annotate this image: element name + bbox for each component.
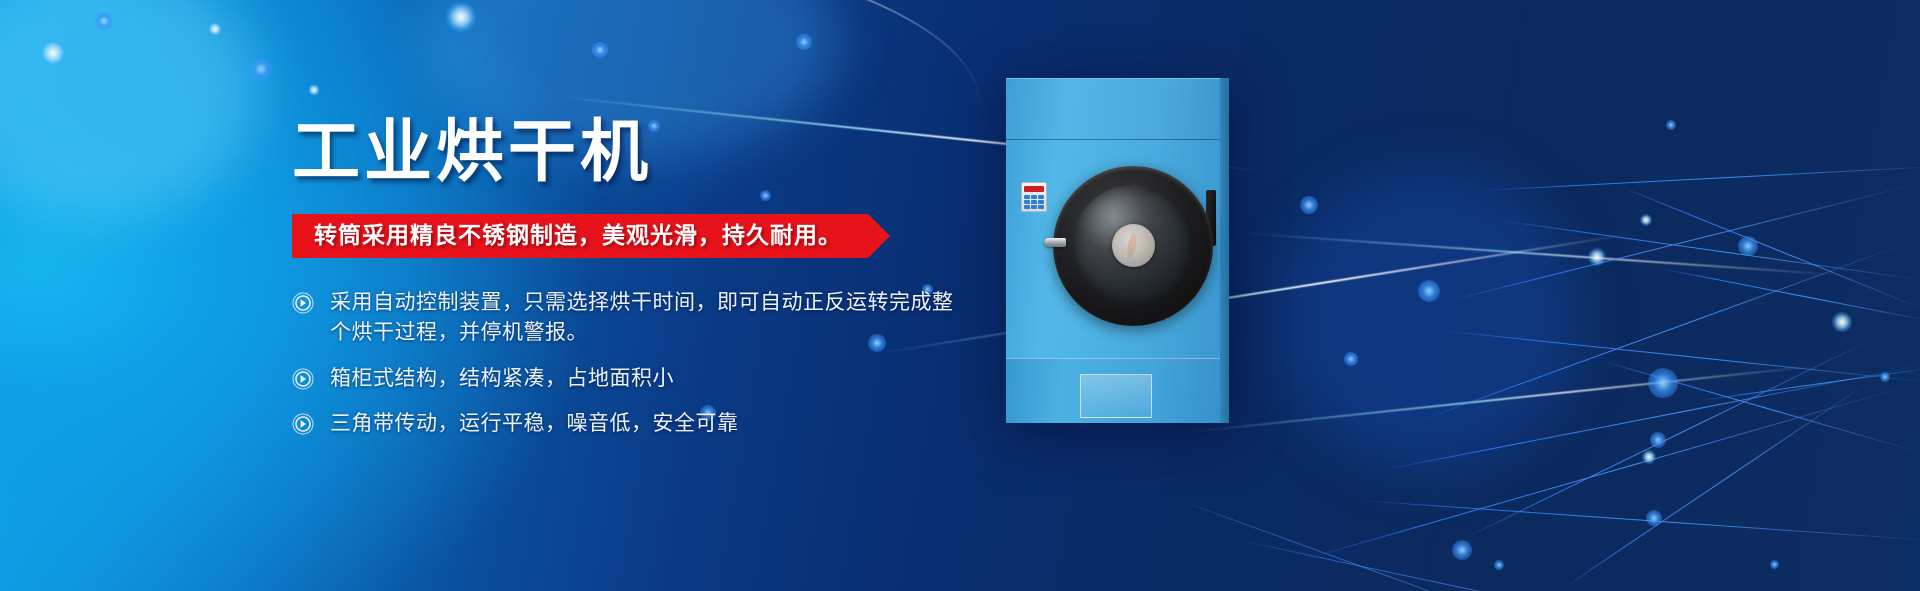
glow-node (796, 34, 812, 50)
glow-node (1648, 368, 1678, 398)
feature-text: 箱柜式结构，结构紧凑，占地面积小 (330, 364, 674, 394)
light-beam (1240, 232, 1839, 276)
mesh-line (1460, 334, 1883, 541)
light-beam (1180, 365, 1817, 434)
product-hero-banner: 工业烘干机 转筒采用精良不锈钢制造，美观光滑，持久耐用。 采用自动控制装置，只需… (0, 0, 1920, 591)
glow-node (1344, 352, 1358, 366)
control-keypad (1024, 195, 1044, 209)
glow-blob (1280, 170, 1580, 470)
glow-node (592, 42, 608, 58)
glow-node (250, 58, 272, 80)
tagline-ribbon: 转筒采用精良不锈钢制造，美观光滑，持久耐用。 (292, 214, 868, 258)
page-title: 工业烘干机 (292, 118, 992, 186)
control-display (1024, 186, 1044, 192)
list-item: 采用自动控制装置，只需选择烘干时间，即可自动正反运转完成整个烘干过程，并停机警报… (292, 288, 992, 348)
mesh-line (1660, 268, 1920, 323)
glow-node (1770, 560, 1779, 569)
glow-node (1494, 560, 1504, 570)
mesh-line (1380, 363, 1920, 471)
circle-chevron-right-icon (292, 368, 314, 390)
machine-side-edge (1220, 78, 1229, 423)
drum-hub (1112, 224, 1155, 267)
glow-node (1640, 214, 1652, 226)
mesh-line (1600, 360, 1918, 452)
feature-text: 采用自动控制装置，只需选择烘干时间，即可自动正反运转完成整个烘干过程，并停机警报… (330, 288, 970, 348)
glow-node (1832, 312, 1852, 332)
mesh-line (1700, 367, 1920, 402)
glow-node (1646, 510, 1662, 526)
machine-door (1053, 166, 1213, 326)
mesh-line (1500, 220, 1920, 281)
machine-control-panel (1021, 182, 1047, 212)
glow-node (1452, 540, 1472, 560)
machine-top-panel (1006, 78, 1228, 140)
mesh-line (1360, 500, 1920, 542)
glow-node (1418, 280, 1440, 302)
door-glass (1072, 185, 1194, 307)
glow-node (40, 40, 66, 66)
list-item: 三角带传动，运行平稳，噪音低，安全可靠 (292, 409, 992, 439)
mesh-line (1420, 242, 1909, 421)
light-beam (880, 233, 1631, 354)
mesh-line (1440, 330, 1920, 384)
glow-node (95, 12, 113, 30)
circle-chevron-right-icon (292, 292, 314, 314)
tagline-text: 转筒采用精良不锈钢制造，美观光滑，持久耐用。 (314, 223, 842, 248)
list-item: 箱柜式结构，结构紧凑，占地面积小 (292, 364, 992, 394)
drum-swirl (1126, 233, 1139, 259)
glow-node (1650, 432, 1666, 448)
glow-node (1666, 120, 1676, 130)
glow-node (1738, 236, 1758, 256)
mesh-line (1560, 378, 1876, 591)
banner-content: 工业烘干机 转筒采用精良不锈钢制造，美观光滑，持久耐用。 采用自动控制装置，只需… (292, 118, 992, 439)
glow-node (1300, 196, 1318, 214)
mesh-line (1450, 184, 1916, 301)
mesh-line (1620, 186, 1920, 311)
lint-filter-door (1080, 374, 1152, 418)
glow-node (446, 2, 476, 32)
glow-node (1588, 248, 1606, 266)
glow-node (1642, 450, 1656, 464)
glow-node (208, 22, 222, 36)
circle-chevron-right-icon (292, 413, 314, 435)
glow-blob (0, 0, 260, 220)
glow-node (1880, 372, 1890, 382)
mesh-line (1180, 500, 1538, 591)
product-image-dryer (1006, 78, 1228, 423)
glow-node (308, 84, 320, 96)
mesh-line (1240, 540, 1632, 591)
feature-text: 三角带传动，运行平稳，噪音低，安全可靠 (330, 409, 739, 439)
mesh-line (1300, 384, 1916, 562)
feature-list: 采用自动控制装置，只需选择烘干时间，即可自动正反运转完成整个烘干过程，并停机警报… (292, 288, 992, 439)
mesh-line (1480, 165, 1920, 191)
door-handle (1044, 238, 1066, 247)
